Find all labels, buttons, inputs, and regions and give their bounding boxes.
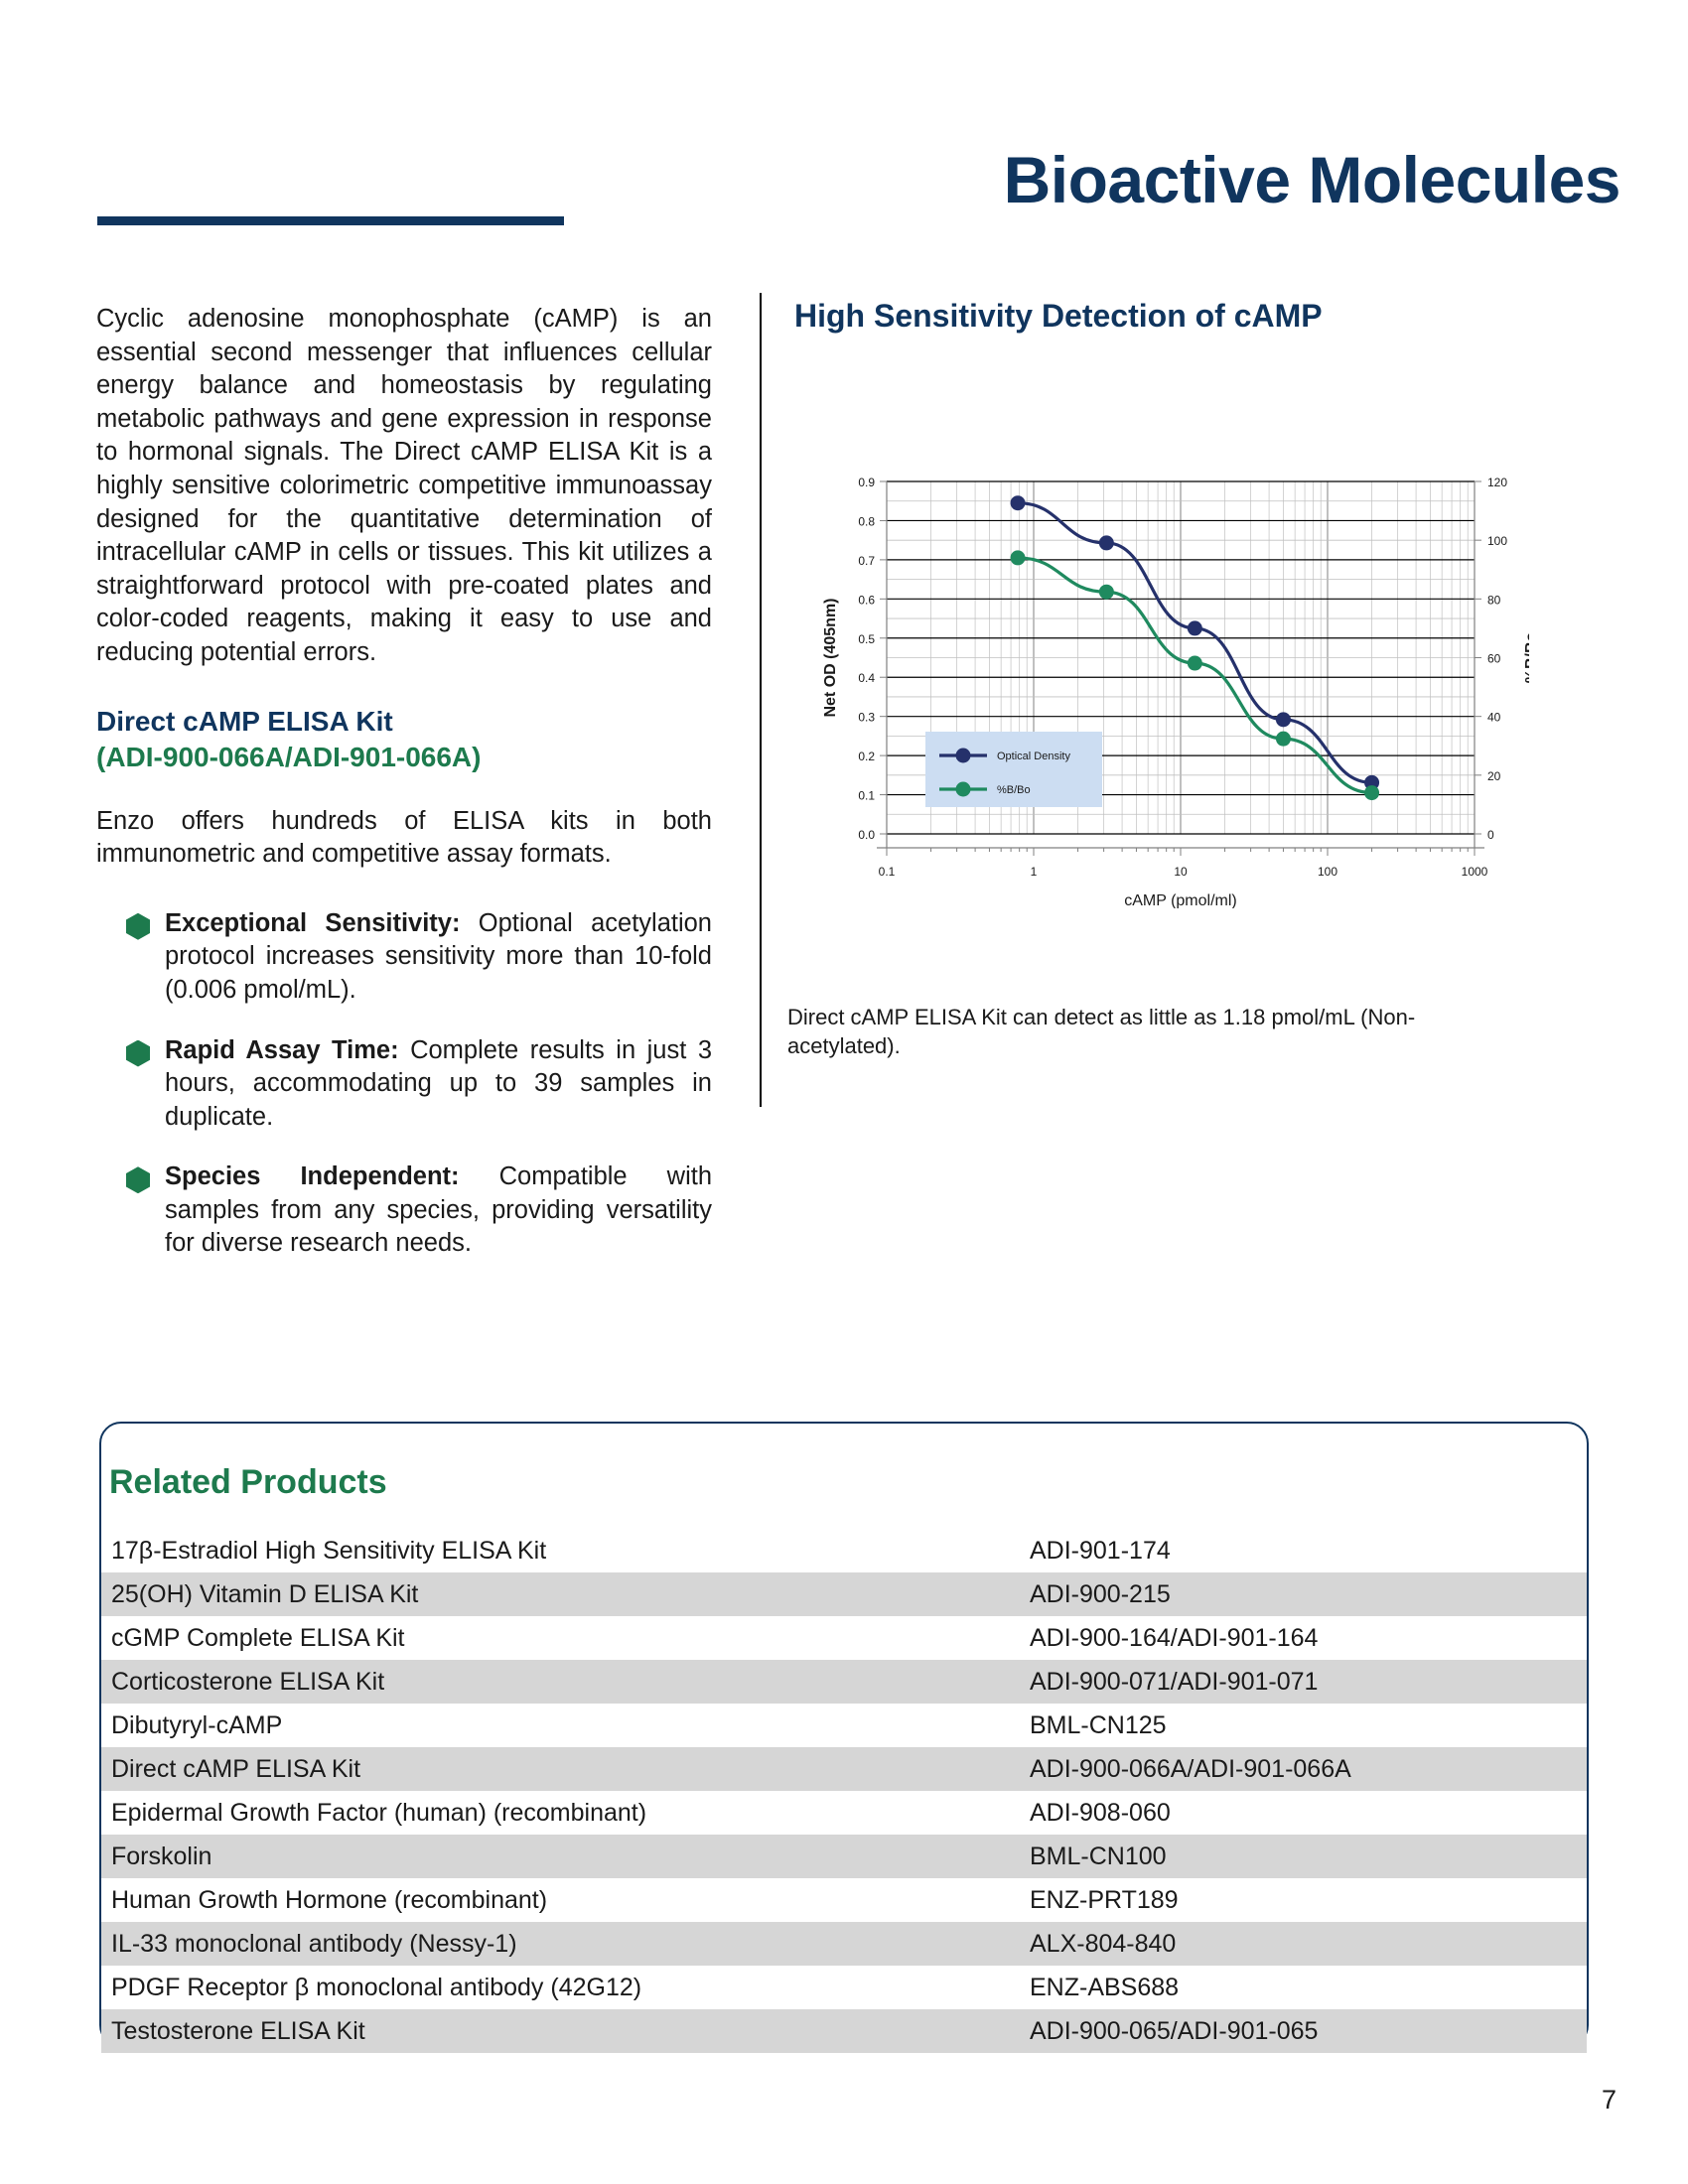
y2-axis-tick-label: 80: [1487, 593, 1501, 607]
y2-axis-tick-label: 40: [1487, 711, 1501, 725]
x-axis-tick-label: 1: [1031, 865, 1038, 879]
product-name-cell: Human Growth Hormone (recombinant): [101, 1878, 1030, 1922]
product-catalog-cell: BML-CN100: [1030, 1835, 1587, 1878]
product-name-cell: Direct cAMP ELISA Kit: [101, 1747, 1030, 1791]
series-marker: [1099, 535, 1114, 550]
table-row: 25(OH) Vitamin D ELISA KitADI-900-215: [101, 1572, 1587, 1616]
kit-name-heading: Direct cAMP ELISA Kit: [96, 704, 712, 740]
left-column: Cyclic adenosine monophosphate (cAMP) is…: [96, 303, 712, 1288]
product-catalog-cell: ADI-908-060: [1030, 1791, 1587, 1835]
y-axis-tick-label: 0.1: [858, 789, 875, 803]
product-catalog-cell: ENZ-PRT189: [1030, 1878, 1587, 1922]
series-marker: [1188, 620, 1202, 635]
table-row: Corticosterone ELISA KitADI-900-071/ADI-…: [101, 1660, 1587, 1704]
series-marker: [1011, 495, 1026, 510]
hexagon-bullet-icon: [126, 1166, 150, 1193]
y-axis-tick-label: 0.5: [858, 632, 875, 646]
product-name-cell: Epidermal Growth Factor (human) (recombi…: [101, 1791, 1030, 1835]
product-name-cell: Testosterone ELISA Kit: [101, 2009, 1030, 2053]
product-catalog-cell: ADI-900-071/ADI-901-071: [1030, 1660, 1587, 1704]
intro-paragraph: Cyclic adenosine monophosphate (cAMP) is…: [96, 303, 712, 670]
feature-bullet-list: Exceptional Sensitivity: Optional acetyl…: [96, 907, 712, 1261]
chart-svg: 0.00.10.20.30.40.50.60.70.80.90204060801…: [774, 462, 1529, 908]
product-catalog-cell: ALX-804-840: [1030, 1922, 1587, 1966]
table-row: Human Growth Hormone (recombinant)ENZ-PR…: [101, 1878, 1587, 1922]
list-item: Exceptional Sensitivity: Optional acetyl…: [126, 907, 712, 1008]
table-row: cGMP Complete ELISA KitADI-900-164/ADI-9…: [101, 1616, 1587, 1660]
x-axis-tick-label: 100: [1318, 865, 1337, 879]
list-item: Rapid Assay Time: Complete results in ju…: [126, 1034, 712, 1135]
bullet-label: Rapid Assay Time:: [165, 1036, 399, 1064]
legend-marker-2: [956, 782, 971, 797]
related-products-table: 17β-Estradiol High Sensitivity ELISA Kit…: [101, 1529, 1587, 2053]
list-item: Species Independent: Compatible with sam…: [126, 1160, 712, 1261]
bullet-body: Rapid Assay Time: Complete results in ju…: [165, 1034, 712, 1135]
product-name-cell: Forskolin: [101, 1835, 1030, 1878]
x-axis-tick-label: 10: [1174, 865, 1188, 879]
table-row: Dibutyryl-cAMPBML-CN125: [101, 1704, 1587, 1747]
product-catalog-cell: ENZ-ABS688: [1030, 1966, 1587, 2009]
y2-axis-tick-label: 120: [1487, 476, 1507, 489]
series-marker: [1276, 732, 1291, 747]
y-axis-tick-label: 0.2: [858, 750, 875, 763]
product-name-cell: 25(OH) Vitamin D ELISA Kit: [101, 1572, 1030, 1616]
x-axis-title: cAMP (pmol/ml): [1124, 892, 1237, 908]
legend-label-2: %B/Bo: [997, 784, 1031, 796]
product-name-cell: Corticosterone ELISA Kit: [101, 1660, 1030, 1704]
product-catalog-cell: ADI-900-164/ADI-901-164: [1030, 1616, 1587, 1660]
bullet-body: Exceptional Sensitivity: Optional acetyl…: [165, 907, 712, 1008]
series-marker: [1011, 550, 1026, 565]
series-marker: [1188, 656, 1202, 671]
y2-axis-title: %B/Bo: [1523, 632, 1529, 684]
y2-axis-tick-label: 100: [1487, 534, 1507, 548]
product-catalog-cell: BML-CN125: [1030, 1704, 1587, 1747]
y2-axis-tick-label: 60: [1487, 652, 1501, 666]
y-axis-tick-label: 0.7: [858, 554, 875, 568]
section-heading: High Sensitivity Detection of cAMP: [794, 298, 1609, 335]
legend-label-1: Optical Density: [997, 751, 1070, 762]
table-row: Testosterone ELISA KitADI-900-065/ADI-90…: [101, 2009, 1587, 2053]
bullet-body: Species Independent: Compatible with sam…: [165, 1160, 712, 1261]
y-axis-tick-label: 0.6: [858, 593, 875, 607]
related-products-title: Related Products: [109, 1463, 387, 1502]
page-title: Bioactive Molecules: [1004, 147, 1620, 212]
figure-caption: Direct cAMP ELISA Kit can detect as litt…: [787, 1003, 1482, 1060]
table-row: Direct cAMP ELISA KitADI-900-066A/ADI-90…: [101, 1747, 1587, 1791]
product-catalog-cell: ADI-901-174: [1030, 1529, 1587, 1572]
column-divider: [760, 293, 762, 1107]
table-row: 17β-Estradiol High Sensitivity ELISA Kit…: [101, 1529, 1587, 1572]
header-rule: [97, 216, 564, 225]
table-row: Epidermal Growth Factor (human) (recombi…: [101, 1791, 1587, 1835]
series-marker: [1364, 785, 1379, 800]
page-root: Bioactive Molecules Cyclic adenosine mon…: [0, 0, 1688, 2184]
enzo-note-paragraph: Enzo offers hundreds of ELISA kits in bo…: [96, 805, 712, 872]
y2-axis-tick-label: 0: [1487, 828, 1494, 842]
bullet-label: Exceptional Sensitivity:: [165, 909, 460, 937]
product-catalog-cell: ADI-900-066A/ADI-901-066A: [1030, 1747, 1587, 1791]
right-column: High Sensitivity Detection of cAMP: [794, 298, 1609, 335]
product-name-cell: cGMP Complete ELISA Kit: [101, 1616, 1030, 1660]
table-row: ForskolinBML-CN100: [101, 1835, 1587, 1878]
y-axis-title: Net OD (405nm): [822, 598, 839, 717]
y-axis-tick-label: 0.4: [858, 671, 875, 685]
product-name-cell: PDGF Receptor β monoclonal antibody (42G…: [101, 1966, 1030, 2009]
product-catalog-cell: ADI-900-215: [1030, 1572, 1587, 1616]
product-name-cell: IL-33 monoclonal antibody (Nessy-1): [101, 1922, 1030, 1966]
kit-catalog-heading: (ADI-900-066A/ADI-901-066A): [96, 740, 712, 775]
y-axis-tick-label: 0.3: [858, 711, 875, 725]
hexagon-bullet-icon: [126, 1040, 150, 1067]
camp-standard-curve-chart: 0.00.10.20.30.40.50.60.70.80.90204060801…: [774, 462, 1529, 908]
y-axis-tick-label: 0.0: [858, 828, 875, 842]
product-catalog-cell: ADI-900-065/ADI-901-065: [1030, 2009, 1587, 2053]
series-marker: [1099, 585, 1114, 600]
legend-marker-1: [956, 749, 971, 763]
bullet-label: Species Independent:: [165, 1162, 460, 1190]
table-row: PDGF Receptor β monoclonal antibody (42G…: [101, 1966, 1587, 2009]
related-products-tbody: 17β-Estradiol High Sensitivity ELISA Kit…: [101, 1529, 1587, 2053]
hexagon-bullet-icon: [126, 913, 150, 940]
x-axis-tick-label: 0.1: [879, 865, 896, 879]
product-name-cell: 17β-Estradiol High Sensitivity ELISA Kit: [101, 1529, 1030, 1572]
y-axis-tick-label: 0.8: [858, 514, 875, 528]
product-name-cell: Dibutyryl-cAMP: [101, 1704, 1030, 1747]
y2-axis-tick-label: 20: [1487, 769, 1501, 783]
series-marker: [1276, 712, 1291, 727]
x-axis-tick-label: 1000: [1462, 865, 1488, 879]
y-axis-tick-label: 0.9: [858, 476, 875, 489]
table-row: IL-33 monoclonal antibody (Nessy-1)ALX-8…: [101, 1922, 1587, 1966]
page-number: 7: [1602, 2085, 1617, 2116]
